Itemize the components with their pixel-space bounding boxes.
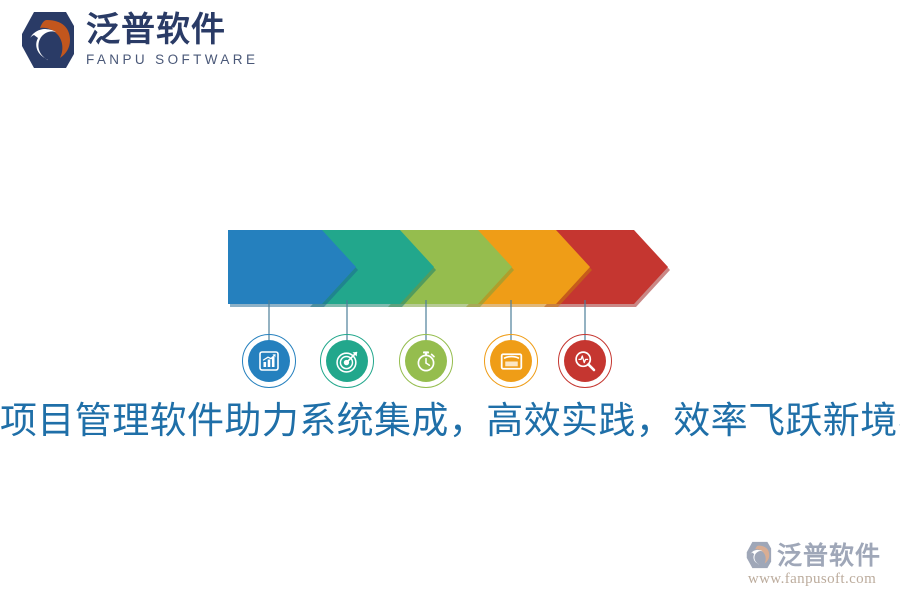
process-chevron-band [228,228,668,306]
presentation-board-icon[interactable] [490,340,532,382]
bar-chart-growth-icon[interactable] [248,340,290,382]
brand-name-en: FANPU SOFTWARE [86,53,258,67]
page-headline: 项目管理软件助力系统集成，高效实践，效率飞跃新境界 [0,396,900,446]
fanpu-watermark-logo-icon [743,540,773,570]
watermark-url: www.fanpusoft.com [738,571,886,588]
brand-wordmark: 泛普软件 FANPU SOFTWARE [86,13,258,67]
process-icon-node-4[interactable] [484,334,538,388]
brand-logo: 泛普软件 FANPU SOFTWARE [14,8,258,72]
brand-name-cn: 泛普软件 [86,13,258,47]
process-icon-row [228,334,668,392]
fanpu-hexagon-logo-icon [14,8,78,72]
magnifier-pulse-icon[interactable] [564,340,606,382]
watermark-brand: 泛普软件 [738,540,886,570]
process-icon-node-1[interactable] [242,334,296,388]
watermark-name-cn: 泛普软件 [777,543,881,568]
process-icon-node-2[interactable] [320,334,374,388]
process-icon-node-5[interactable] [558,334,612,388]
process-icon-node-3[interactable] [399,334,453,388]
watermark: 泛普软件 www.fanpusoft.com [738,540,886,588]
target-arrow-icon[interactable] [326,340,368,382]
stopwatch-icon[interactable] [405,340,447,382]
